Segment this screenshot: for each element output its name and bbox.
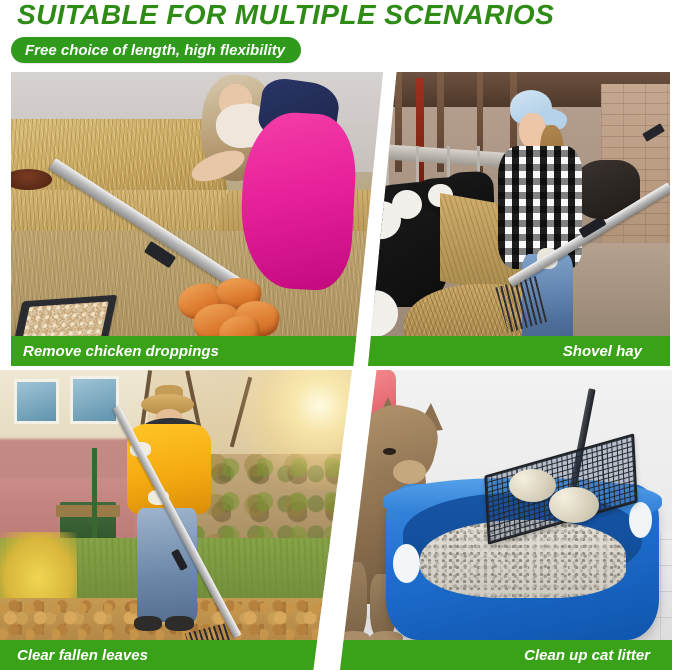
rail-bar xyxy=(416,146,419,187)
caption-label: Clean up cat litter xyxy=(524,648,650,663)
caption-bar: Clear fallen leaves xyxy=(0,640,352,670)
panel-row-top: Remove chicken droppings xyxy=(0,72,679,366)
rail-bar xyxy=(386,146,389,187)
panel-remove-chicken-droppings[interactable]: Remove chicken droppings xyxy=(11,72,383,366)
feed-bowl xyxy=(11,169,52,190)
window xyxy=(70,376,118,424)
litter-box-handle xyxy=(629,502,652,538)
cat-muzzle xyxy=(393,460,426,484)
shoe xyxy=(134,616,162,631)
header-banner: SUITABLE FOR MULTIPLE SCENARIOS Free cho… xyxy=(0,0,679,72)
litter-box-handle xyxy=(393,544,420,583)
page-title: SUITABLE FOR MULTIPLE SCENARIOS xyxy=(17,0,554,31)
window xyxy=(14,379,59,424)
caption-bar: Clean up cat litter xyxy=(340,640,672,670)
photo-chicken-droppings xyxy=(11,72,383,366)
panel-shovel-hay[interactable]: Shovel hay xyxy=(368,72,670,366)
sun-flare xyxy=(232,370,352,490)
bench-seat xyxy=(56,505,119,517)
cat-leg xyxy=(340,562,367,640)
caption-bar: Shovel hay xyxy=(368,336,670,366)
panel-clean-up-cat-litter[interactable]: Clean up cat litter xyxy=(340,370,672,670)
caption-bar: Remove chicken droppings xyxy=(11,336,383,366)
caption-label: Clear fallen leaves xyxy=(17,648,148,663)
tagline-badge-label: Free choice of length, high flexibility xyxy=(25,43,285,58)
photo-shovel-hay xyxy=(368,72,670,366)
tagline-badge: Free choice of length, high flexibility xyxy=(11,37,301,63)
photo-clear-leaves xyxy=(0,370,352,670)
yellow-bush xyxy=(0,532,77,598)
caption-label: Shovel hay xyxy=(563,344,642,359)
caption-label: Remove chicken droppings xyxy=(23,344,219,359)
panel-clear-fallen-leaves[interactable]: Clear fallen leaves xyxy=(0,370,352,670)
shoe xyxy=(165,616,193,631)
photo-cat-litter xyxy=(340,370,672,670)
litter-clump xyxy=(549,487,599,523)
panel-row-bottom: Clear fallen leaves xyxy=(0,370,679,670)
man-jeans xyxy=(137,508,197,622)
litter-clump xyxy=(509,469,555,502)
